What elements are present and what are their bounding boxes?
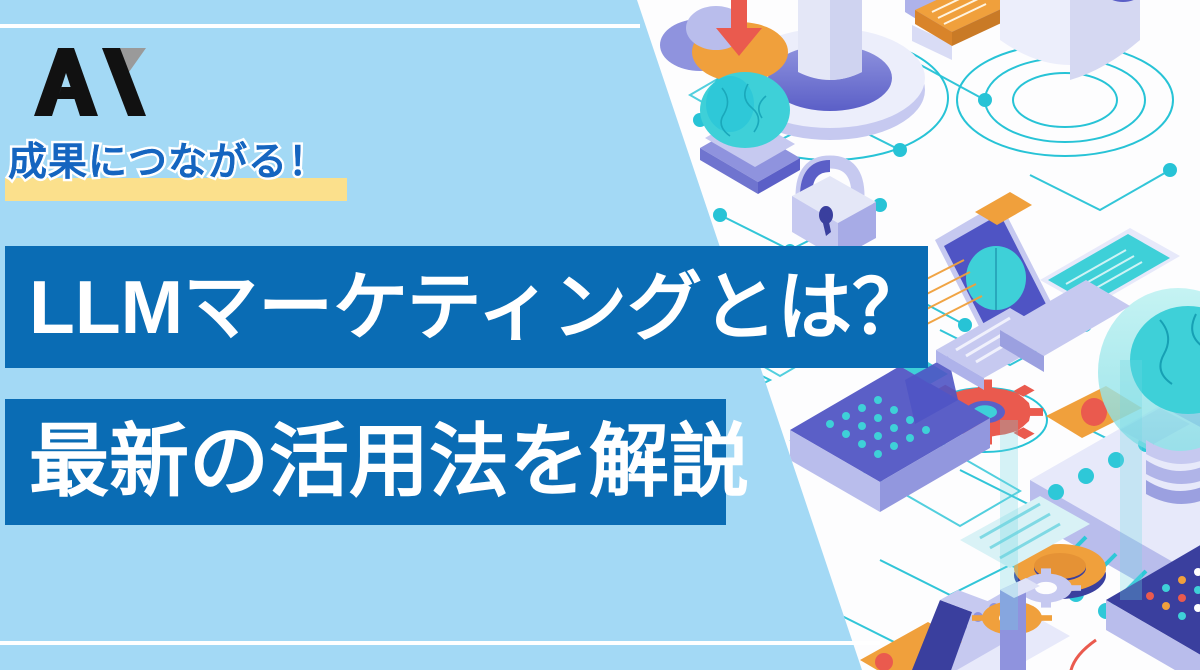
subtitle-text: 成果につながる！ bbox=[8, 140, 328, 186]
ax-logo[interactable] bbox=[22, 46, 146, 116]
banner-canvas: 成果につながる！ 成果につながる！ LLMマーケティングとは？ 最新の活用法を解… bbox=[0, 0, 1200, 670]
logo-letter-a bbox=[34, 48, 98, 116]
headline-line-2: 最新の活用法を解説 bbox=[29, 410, 749, 514]
bottom-divider-line bbox=[0, 641, 880, 645]
subtitle-group: 成果につながる！ 成果につながる！ bbox=[0, 140, 620, 206]
padlock-icon bbox=[792, 162, 876, 259]
cloud-download-icon bbox=[660, 0, 788, 82]
headline-line-1: LLMマーケティングとは？ bbox=[29, 257, 927, 357]
top-divider-line bbox=[0, 24, 640, 28]
